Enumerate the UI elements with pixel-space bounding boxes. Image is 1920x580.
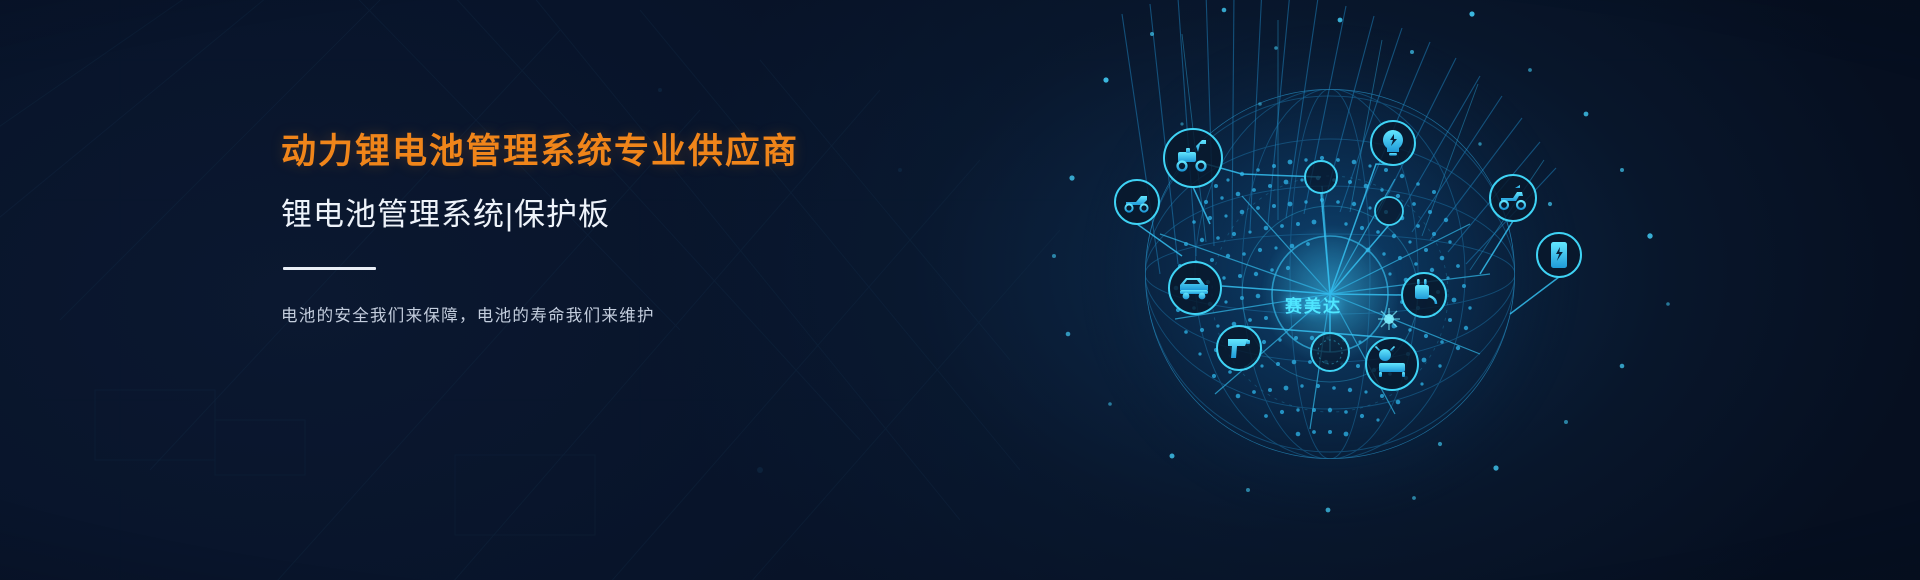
hero-copy-block: 动力锂电池管理系统专业供应商 锂电池管理系统|保护板 电池的安全我们来保障，电池… (281, 132, 1041, 326)
node-electric-scooter[interactable] (1164, 129, 1222, 187)
node-empty-mid[interactable] (1375, 197, 1403, 225)
node-solar-lamp[interactable] (1366, 338, 1418, 390)
title-divider (283, 267, 376, 270)
node-power-drill[interactable] (1217, 326, 1261, 370)
node-empty-top[interactable] (1305, 161, 1337, 193)
page-subtitle: 锂电池管理系统|保护板 (281, 197, 1041, 233)
globe-network-svg (1010, 0, 1710, 580)
node-power-plug[interactable] (1402, 273, 1446, 317)
node-empty-low[interactable] (1311, 333, 1349, 371)
node-electric-car[interactable] (1169, 262, 1221, 314)
hero-tagline: 电池的安全我们来保障，电池的寿命我们来维护 (281, 302, 1041, 326)
hub-sparkle (1378, 308, 1400, 330)
node-motorbike-left[interactable] (1115, 180, 1159, 224)
node-motorcycle[interactable] (1490, 175, 1536, 221)
node-light-bulb[interactable] (1371, 121, 1415, 165)
phone-battery-icon (1551, 242, 1567, 268)
page-title: 动力锂电池管理系统专业供应商 (281, 132, 1041, 171)
globe-network-graphic: 赛美达 (1010, 0, 1710, 580)
hero-banner: 动力锂电池管理系统专业供应商 锂电池管理系统|保护板 电池的安全我们来保障，电池… (0, 0, 1920, 580)
node-phone-battery[interactable] (1537, 233, 1581, 277)
